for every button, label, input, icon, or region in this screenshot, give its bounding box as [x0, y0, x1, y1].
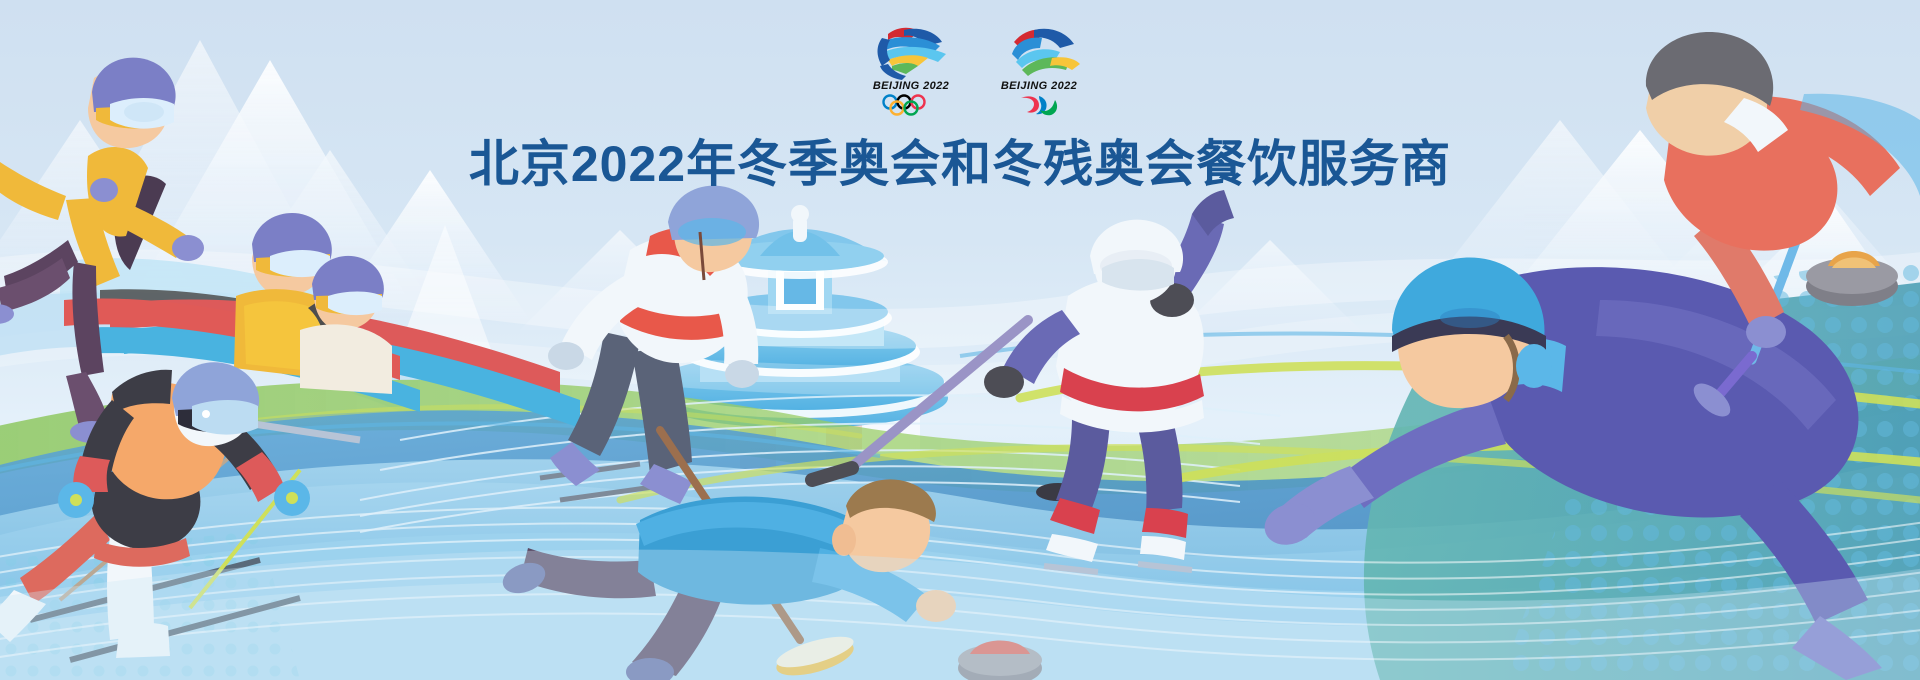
paralympic-wordmark: BEIJING 2022 — [986, 81, 1092, 92]
olympic-emblem: BEIJING 2022 — [858, 24, 964, 116]
olympic-banner: BEIJING 2022 BEIJING 2022 — [0, 0, 1920, 680]
beijing-2022-paralympic-mark — [986, 24, 1092, 80]
olympic-wordmark: BEIJING 2022 — [858, 81, 964, 92]
emblem-group: BEIJING 2022 BEIJING 2022 — [855, 24, 1095, 116]
page-title: 北京2022年冬季奥会和冬残奥会餐饮服务商 — [0, 124, 1920, 196]
paralympic-emblem: BEIJING 2022 — [986, 24, 1092, 116]
agitos-icon — [1015, 94, 1063, 116]
beijing-2022-olympic-mark — [858, 24, 964, 80]
olympic-rings-icon — [880, 94, 942, 116]
